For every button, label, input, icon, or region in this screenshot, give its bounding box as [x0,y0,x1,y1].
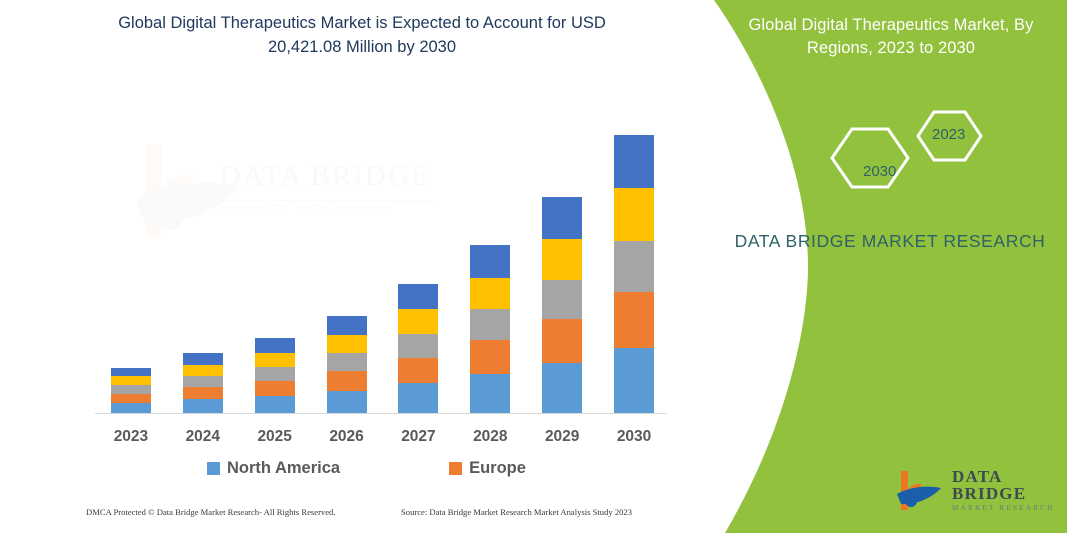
bar-segment[interactable] [470,245,510,277]
stacked-bar[interactable] [398,284,438,413]
x-axis-label: 2030 [599,428,670,452]
bar-segment[interactable] [111,376,151,385]
logo-wordmark: DATA BRIDGE MARKET RESEARCH [952,468,1067,512]
legend-label-north-america: North America [227,459,340,478]
bar-column[interactable] [239,125,310,413]
legend-swatch-europe [449,462,462,475]
bar-segment[interactable] [398,284,438,309]
stacked-bar[interactable] [542,197,582,413]
bar-segment[interactable] [398,309,438,333]
bar-column[interactable] [95,125,166,413]
footer: DMCA Protected © Data Bridge Market Rese… [0,505,690,527]
bar-segment[interactable] [614,348,654,413]
x-axis-label: 2029 [527,428,598,452]
x-axis-label: 2026 [311,428,382,452]
bar-segment[interactable] [398,334,438,358]
bar-segment[interactable] [255,353,295,367]
bar-segment[interactable] [398,383,438,413]
bar-column[interactable] [167,125,238,413]
legend-item-europe[interactable]: Europe [449,459,526,478]
bar-segment[interactable] [327,316,367,335]
stacked-bar[interactable] [614,135,654,413]
bar-segment[interactable] [255,338,295,352]
bar-segment[interactable] [542,197,582,239]
x-axis-label: 2027 [383,428,454,452]
bar-segment[interactable] [542,319,582,362]
legend-item-north-america[interactable]: North America [207,459,340,478]
x-axis-line [95,413,667,414]
bar-segment[interactable] [614,135,654,188]
panel-leaf-shape [690,0,1067,533]
stacked-bar[interactable] [183,353,223,413]
bar-segment[interactable] [327,391,367,413]
x-axis-labels: 20232024202520262027202820292030 [95,428,670,452]
bar-segment[interactable] [111,394,151,403]
legend-label-europe: Europe [469,459,526,478]
bar-segment[interactable] [327,371,367,390]
bar-segment[interactable] [614,188,654,241]
stacked-bar[interactable] [111,368,151,413]
legend-swatch-north-america [207,462,220,475]
regions-panel: Global Digital Therapeutics Market, By R… [690,0,1067,533]
stacked-bar[interactable] [327,316,367,413]
chart-title: Global Digital Therapeutics Market is Ex… [92,12,632,60]
bar-segment[interactable] [255,381,295,396]
bar-segment[interactable] [111,403,151,413]
bar-segment[interactable] [614,292,654,348]
stacked-bar[interactable] [470,245,510,413]
data-bridge-logo-mark [895,468,943,512]
bar-segment[interactable] [183,399,223,413]
bar-segment[interactable] [470,278,510,310]
bar-segment[interactable] [111,385,151,394]
bar-column[interactable] [455,125,526,413]
infographic-root: Global Digital Therapeutics Market, By R… [0,0,1067,533]
bar-column[interactable] [311,125,382,413]
logo-line-1: DATA BRIDGE [952,468,1067,502]
bar-segment[interactable] [327,335,367,354]
hexagon-label-2023: 2023 [932,126,965,143]
hexagon-label-2030: 2030 [863,163,896,180]
bar-segment[interactable] [470,340,510,374]
bar-segment[interactable] [183,353,223,365]
bar-segment[interactable] [614,241,654,292]
x-axis-label: 2028 [455,428,526,452]
bar-segment[interactable] [470,309,510,340]
x-axis-label: 2024 [167,428,238,452]
bar-segment[interactable] [542,239,582,280]
bar-segment[interactable] [398,358,438,384]
bar-segment[interactable] [470,374,510,413]
panel-brand-text: DATA BRIDGE MARKET RESEARCH [730,228,1050,254]
logo-b-icon [895,468,943,512]
logo-line-2: MARKET RESEARCH [952,505,1067,512]
bar-segment[interactable] [111,368,151,377]
x-axis-label: 2025 [239,428,310,452]
x-axis-label: 2023 [95,428,166,452]
bar-segment[interactable] [183,387,223,399]
stacked-bar-chart [95,125,670,415]
bar-column[interactable] [383,125,454,413]
hexagon-group: 2023 2030 [820,96,1020,206]
bar-segment[interactable] [542,363,582,413]
panel-title: Global Digital Therapeutics Market, By R… [726,14,1056,61]
bar-segment[interactable] [255,367,295,381]
bar-segment[interactable] [183,376,223,387]
bar-column[interactable] [527,125,598,413]
footer-dmca: DMCA Protected © Data Bridge Market Rese… [86,507,336,517]
stacked-bar[interactable] [255,338,295,413]
hexagons-svg [820,96,1020,206]
data-bridge-logo: DATA BRIDGE MARKET RESEARCH [895,468,1067,512]
chart-legend: North America Europe [95,455,670,481]
bar-segment[interactable] [327,353,367,371]
footer-source: Source: Data Bridge Market Research Mark… [401,507,632,517]
bar-segment[interactable] [183,365,223,377]
bar-group [95,125,670,413]
bar-segment[interactable] [542,280,582,320]
bar-segment[interactable] [255,396,295,413]
bar-column[interactable] [599,125,670,413]
